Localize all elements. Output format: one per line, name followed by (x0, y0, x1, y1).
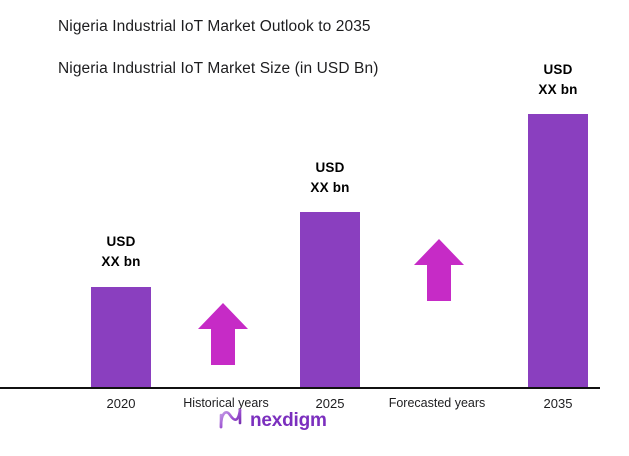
nexdigm-wordmark: nexdigm (250, 411, 327, 430)
value-label-currency: USD (280, 158, 380, 178)
value-label-currency: USD (71, 232, 171, 252)
x-axis-line (0, 387, 600, 389)
value-label-amount: XX bn (280, 178, 380, 198)
chart-container: Nigeria Industrial IoT Market Outlook to… (0, 0, 629, 456)
value-label-currency: USD (508, 60, 608, 80)
bar-2020 (91, 287, 151, 388)
nexdigm-wave-icon (218, 406, 244, 435)
growth-arrow-forecast-icon (413, 238, 465, 302)
value-label-amount: XX bn (71, 252, 171, 272)
plot-area: USD XX bn USD XX bn USD XX bn 2020 Histo… (0, 0, 629, 456)
nexdigm-logo: nexdigm (218, 406, 327, 435)
growth-arrow-historical-icon (197, 302, 249, 366)
axis-label-2035: 2035 (518, 396, 598, 411)
value-label-2020: USD XX bn (71, 232, 171, 271)
bar-2035 (528, 114, 588, 388)
bar-2025 (300, 212, 360, 388)
value-label-2035: USD XX bn (508, 60, 608, 99)
value-label-amount: XX bn (508, 80, 608, 100)
value-label-2025: USD XX bn (280, 158, 380, 197)
axis-label-2020: 2020 (81, 396, 161, 411)
axis-label-forecasted-years: Forecasted years (369, 396, 505, 410)
